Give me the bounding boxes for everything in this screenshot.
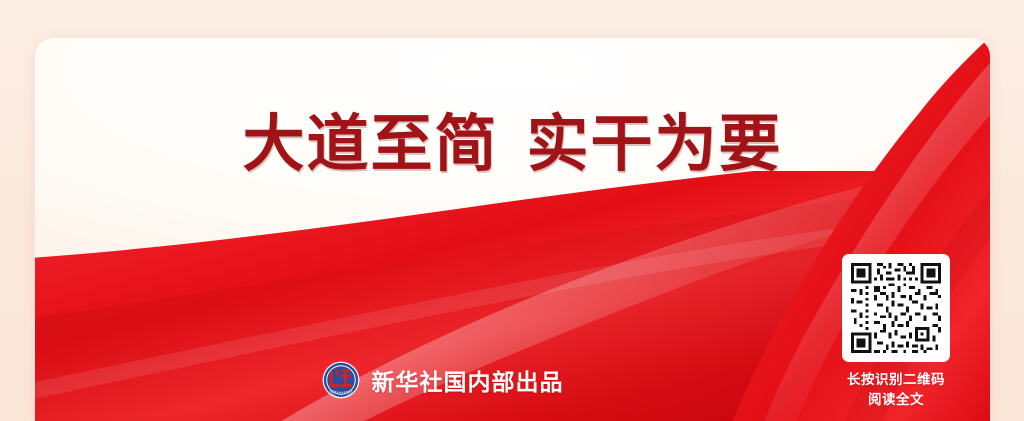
poster-card: 大道至简实干为要 “社会主义是干出来的”系列述评之一 [35, 38, 990, 421]
qr-code-icon[interactable] [842, 254, 950, 362]
headline-part-1: 大道至简 [242, 107, 498, 180]
subtitle-text: “社会主义是干出来的”系列述评之一 [324, 267, 769, 304]
xinhua-news-agency-logo [322, 361, 360, 399]
poster-stage: 大道至简实干为要 “社会主义是干出来的”系列述评之一 [0, 0, 1024, 421]
subtitle-badge: “社会主义是干出来的”系列述评之一 [228, 262, 865, 308]
qr-caption-line-2: 阅读全文 [836, 391, 956, 411]
credit-text: 新华社国内部出品 [372, 363, 564, 397]
headline-part-2: 实干为要 [527, 107, 783, 180]
page-title: 大道至简实干为要 [35, 108, 990, 179]
qr-caption-line-1: 长按识别二维码 [836, 371, 956, 391]
qr-block[interactable]: 长按识别二维码 阅读全文 [836, 254, 956, 410]
